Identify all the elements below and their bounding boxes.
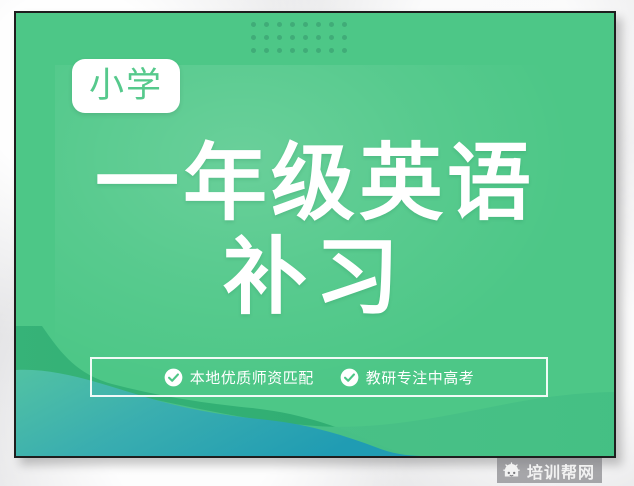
- headline-line-2: 补习: [16, 235, 614, 319]
- watermark: 培训帮网: [497, 458, 602, 483]
- grid-dot: [316, 48, 321, 53]
- grade-level-label: 小学: [89, 68, 163, 103]
- check-circle-icon: [164, 368, 183, 387]
- grid-dot: [290, 35, 295, 40]
- check-circle-icon: [340, 368, 359, 387]
- grid-dot: [290, 22, 295, 27]
- grid-dot: [277, 22, 282, 27]
- grid-dot: [251, 48, 256, 53]
- grid-dot: [342, 35, 347, 40]
- grid-dot: [342, 22, 347, 27]
- grid-dot: [316, 22, 321, 27]
- grid-dot: [329, 48, 334, 53]
- grid-dot: [264, 48, 269, 53]
- headline-line-1: 一年级英语: [16, 141, 614, 225]
- grid-dot: [277, 35, 282, 40]
- grid-dot: [316, 35, 321, 40]
- grid-dot: [264, 22, 269, 27]
- feature-label-2: 教研专注中高考: [366, 367, 475, 388]
- page-title: 一年级英语 补习: [16, 141, 614, 319]
- dot-grid-decoration: [251, 22, 355, 61]
- grid-dot: [277, 48, 282, 53]
- grade-level-badge: 小学: [72, 59, 180, 113]
- feature-label-1: 本地优质师资匹配: [190, 367, 314, 388]
- feature-bar: 本地优质师资匹配 教研专注中高考: [90, 357, 548, 397]
- grid-dot: [303, 35, 308, 40]
- poster-card: 小学 一年级英语 补习 本地优质师资匹配 教研专注中高考: [14, 11, 616, 458]
- grid-dot: [290, 48, 295, 53]
- smiley-sun-icon: [502, 461, 521, 480]
- grid-dot: [342, 48, 347, 53]
- grid-dot: [251, 22, 256, 27]
- grid-dot: [303, 48, 308, 53]
- grid-dot: [303, 22, 308, 27]
- feature-item-1: 本地优质师资匹配: [164, 367, 314, 388]
- grid-dot: [329, 22, 334, 27]
- grid-dot: [251, 35, 256, 40]
- grid-dot: [264, 35, 269, 40]
- grid-dot: [329, 35, 334, 40]
- watermark-text: 培训帮网: [527, 459, 595, 483]
- feature-item-2: 教研专注中高考: [340, 367, 475, 388]
